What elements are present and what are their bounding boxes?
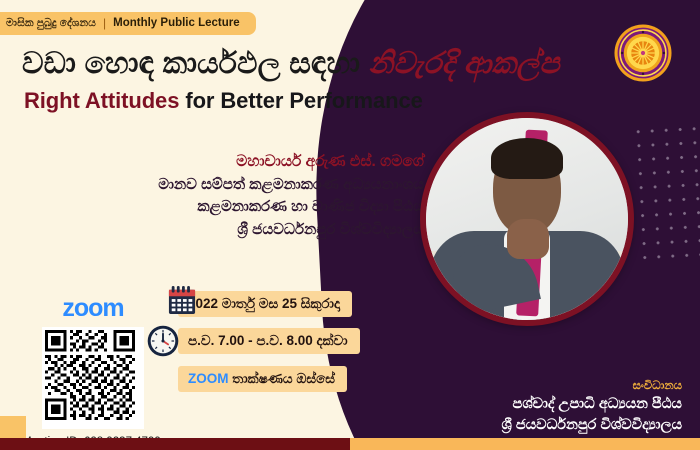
university-seal-icon — [612, 22, 674, 84]
speaker-block: මහාචාර්ය අරුණ එස්. ගමගේ මානව සම්පත් කළමන… — [20, 150, 424, 242]
platform-pill: ZOOM තාක්ෂණය ඔස්සේ — [178, 366, 347, 392]
organiser-faculty: පශ්චාද් උපාධි අධ්‍යයන පීඨය — [382, 394, 682, 415]
speaker-department: මානව සම්පත් කළමනාකරණ අධ්‍යයනාංශය — [20, 174, 424, 197]
time-pill: ප.ව. 7.00 - ප.ව. 8.00 දක්වා — [178, 328, 360, 354]
title-english-rest: for Better Performance — [179, 88, 422, 113]
ribbon-english-label: Monthly Public Lecture — [113, 17, 240, 29]
photo-hand — [507, 219, 549, 259]
page-title-english: Right Attitudes for Better Performance — [24, 88, 584, 114]
speaker-faculty: කළමනාකරණ හා වාණිජ විද්‍යා පීඨය — [20, 196, 424, 219]
platform-brand: ZOOM — [188, 371, 229, 386]
title-sinhala-highlight: නිවැරදි ආකල්ප — [369, 47, 560, 80]
clock-icon — [146, 324, 180, 358]
speaker-university: ශ්‍රී ජයවර්ධනපුර විශ්වවිද්‍යාලය — [20, 219, 424, 242]
lecture-date: 2022 මාර්තු මස 25 සිකුරාදා — [188, 296, 340, 312]
title-sinhala-plain: වඩා හොඳ කාර්යඵල සඳහා — [22, 47, 369, 80]
left-accent-tab — [0, 416, 26, 438]
organiser-block: සංවිධානය පශ්චාද් උපාධි අධ්‍යයන පීඨය ශ්‍ර… — [382, 378, 682, 435]
organiser-university: ශ්‍රී ජයවර්ධනපුර විශ්වවිද්‍යාලය — [382, 415, 682, 436]
platform-text: තාක්ෂණය ඔස්සේ — [229, 371, 335, 386]
ribbon-separator: | — [103, 16, 106, 30]
page-title-sinhala: වඩා හොඳ කාර්යඵල සඳහා නිවැරදි ආකල්ප — [22, 46, 582, 81]
zoom-join-block: zoom — [18, 294, 168, 450]
bottom-bar-orange — [350, 438, 700, 450]
ribbon-sinhala-label: මාසික පුබුදු දේශනය — [6, 17, 96, 30]
dot-pattern-decoration — [631, 115, 700, 265]
title-english-highlight: Right Attitudes — [24, 88, 179, 113]
lecture-poster: මාසික පුබුදු දේශනය | Monthly Public Lect… — [0, 0, 700, 450]
zoom-logo: zoom — [18, 294, 168, 323]
organiser-heading: සංවිධානය — [382, 378, 682, 394]
ribbon-banner: මාසික පුබුදු දේශනය | Monthly Public Lect… — [0, 12, 256, 35]
bottom-bar — [0, 438, 700, 450]
date-pill: 2022 මාර්තු මස 25 සිකුරාදා — [178, 291, 352, 317]
lecture-time: ප.ව. 7.00 - ප.ව. 8.00 දක්වා — [188, 333, 348, 349]
qr-code-icon[interactable] — [42, 327, 144, 429]
bottom-bar-red — [0, 438, 350, 450]
speaker-name: මහාචාර්ය අරුණ එස්. ගමගේ — [20, 150, 424, 174]
photo-hair — [491, 138, 564, 178]
calendar-icon — [168, 285, 196, 315]
speaker-photo — [420, 112, 634, 326]
